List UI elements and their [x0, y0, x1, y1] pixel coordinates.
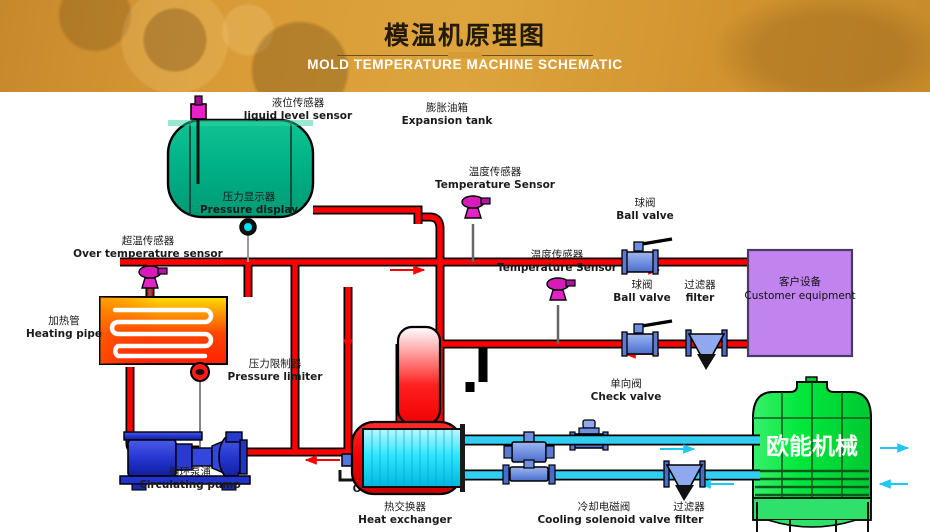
pressure-display — [240, 219, 256, 262]
pressure-display-label-en: Pressure display — [200, 204, 298, 216]
filter-top — [686, 330, 727, 370]
heating-pipe-label-en: Heating pipe — [26, 328, 102, 340]
schematic-svg: 液位传感器 liquid level sensor 膨胀油箱 Expansion… — [0, 92, 930, 532]
cooling-solenoid-label-cn: 冷却电磁阀 — [578, 500, 631, 513]
cooling-solenoid-label-en: Cooling solenoid valve — [537, 514, 670, 526]
heating-pipe-label-cn: 加热管 — [48, 314, 80, 327]
temperature-sensor-mid — [547, 278, 575, 344]
customer-equipment-label-cn: 客户设备 — [779, 275, 821, 288]
expansion-tank-label-en: Expansion tank — [402, 115, 494, 127]
filter-bottom — [664, 461, 705, 501]
pressure-limiter-label-cn: 压力限制器 — [249, 357, 302, 370]
check-valve-label-en: Check valve — [591, 391, 662, 403]
circulating-pump-label-cn: 循环泵浦 — [169, 465, 211, 478]
ball-valve-top-label-en: Ball valve — [616, 210, 673, 222]
filter-bottom-label-en: filter — [675, 514, 705, 526]
page-title-en: MOLD TEMPERATURE MACHINE SCHEMATIC — [0, 57, 930, 72]
heat-exchanger — [352, 422, 465, 494]
liquid-level-sensor-label-cn: 液位传感器 — [272, 96, 325, 109]
ball-valve-mid — [622, 321, 672, 356]
temp-sensor-mid-label-cn: 温度传感器 — [531, 248, 584, 261]
page-title-cn: 模温机原理图 — [0, 16, 930, 52]
cooling-tower-brand-label: 欧能机械 — [766, 433, 858, 460]
temp-sensor-top-label-cn: 温度传感器 — [469, 165, 522, 178]
ball-valve-mid-label-en: Ball valve — [613, 292, 670, 304]
over-temp-sensor-label-cn: 超温传感器 — [122, 234, 175, 247]
schematic-page: 模温机原理图 MOLD TEMPERATURE MACHINE SCHEMATI… — [0, 0, 930, 532]
pressure-display-label-cn: 压力显示器 — [223, 190, 276, 203]
customer-equipment-label-en: Customer equipment — [744, 290, 855, 302]
ball-valve-top — [622, 239, 672, 274]
filter-bottom-label-cn: 过滤器 — [673, 500, 705, 513]
ball-valve-top-label-cn: 球阀 — [635, 196, 656, 209]
temperature-sensor-top — [462, 196, 490, 262]
liquid-level-sensor-label-en: liquid level sensor — [244, 110, 353, 122]
check-valve-label-cn: 单向阀 — [610, 377, 642, 390]
cooling-tower: 欧能机械 — [753, 377, 871, 532]
circulating-pump-label-en: Circulating pump — [139, 479, 241, 491]
over-temp-sensor-label-en: Over temperature sensor — [73, 248, 223, 260]
pressure-limiter-label-en: Pressure limiter — [228, 371, 324, 383]
filter-top-label-cn: 过滤器 — [684, 278, 716, 291]
customer-equipment: 客户设备 Customer equipment — [744, 250, 855, 356]
temp-sensor-mid-label-en: Temperature Sensor — [497, 262, 618, 274]
page-header: 模温机原理图 MOLD TEMPERATURE MACHINE SCHEMATI… — [0, 0, 930, 92]
schematic-canvas: 液位传感器 liquid level sensor 膨胀油箱 Expansion… — [0, 92, 930, 532]
heat-exchanger-label-en: Heat exchanger — [358, 514, 452, 526]
filter-top-label-en: filter — [686, 292, 716, 304]
heat-exchanger-label-cn: 热交换器 — [384, 500, 426, 513]
expansion-tank-label-cn: 膨胀油箱 — [426, 101, 468, 114]
ball-valve-mid-label-cn: 球阀 — [632, 278, 653, 291]
heating-pipe — [100, 297, 227, 364]
accumulator-tank — [398, 327, 440, 424]
temp-sensor-top-label-en: Temperature Sensor — [435, 179, 556, 191]
